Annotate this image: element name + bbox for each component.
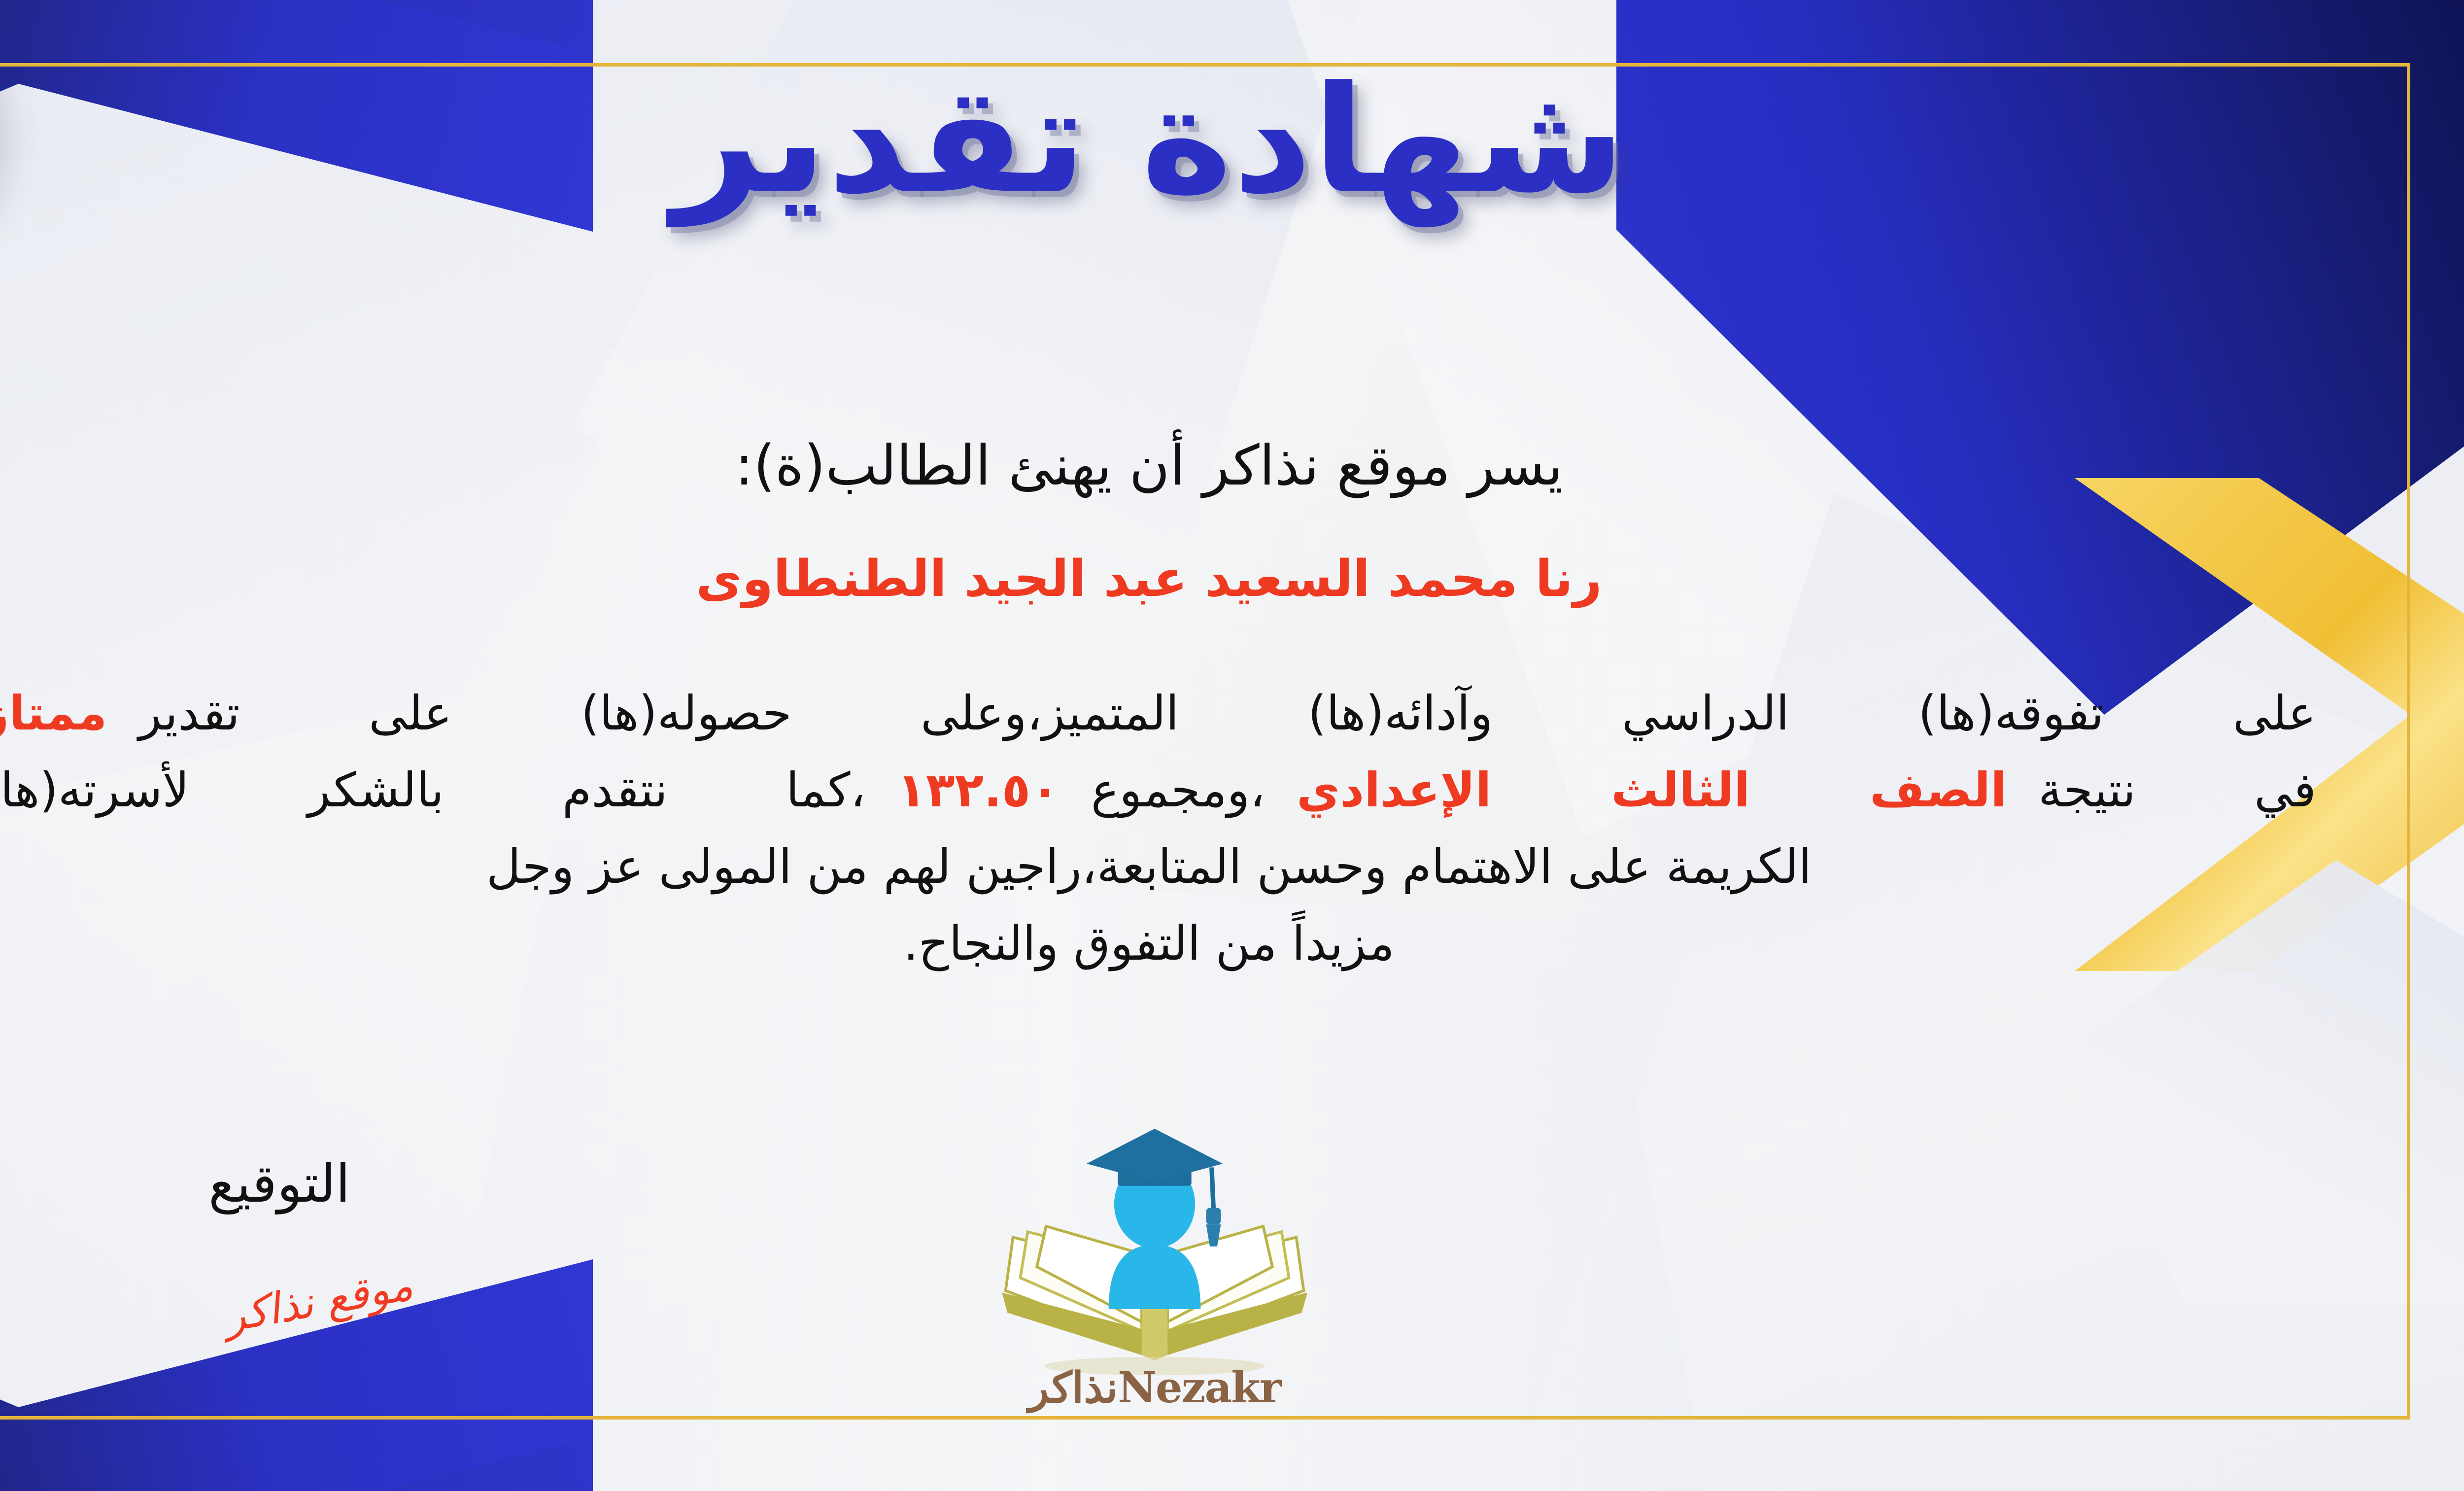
body-line-1-text: على تفوقه(ها) الدراسي وآدائه(ها) المتميز… — [138, 686, 2316, 741]
body-line-3: الكريمة على الاهتمام وحسن المتابعة،راجين… — [0, 829, 2316, 905]
page-title: شهادة تقدير — [0, 67, 2464, 214]
body-line-2-mid: ،ومجموع — [1091, 763, 1265, 818]
grade-rating-value: ممتاز — [0, 686, 107, 741]
mortarboard-top — [1087, 1129, 1223, 1182]
brand-latin: Nezakr — [1118, 1363, 1281, 1413]
body-line-2: في نتيجةالصف الثالث الإعدادي،ومجموع١٣٢.٥… — [0, 752, 2316, 829]
body-paragraph: على تفوقه(ها) الدراسي وآدائه(ها) المتميز… — [0, 675, 2316, 982]
certificate-content: شهادة تقدير يسر موقع نذاكر أن يهنئ الطال… — [0, 0, 2464, 1491]
tassel-cord — [1212, 1167, 1214, 1210]
brand-arabic: نذاكر — [1028, 1363, 1118, 1413]
brand-logo: Nezakrنذاكر — [967, 1129, 1342, 1405]
signature-label: التوقيع — [208, 1153, 350, 1214]
student-name: رنا محمد السعيد عبد الجيد الطنطاوى — [0, 550, 2464, 608]
class-level-value: الصف الثالث الإعدادي — [1297, 763, 2007, 818]
body-line-2-prefix: في نتيجة — [2038, 763, 2316, 818]
total-score-value: ١٣٢.٥٠ — [897, 763, 1059, 818]
tassel-knot — [1206, 1208, 1221, 1225]
greeting-line: يسر موقع نذاكر أن يهنئ الطالب(ة): — [0, 434, 2464, 498]
certificate-canvas: شهادة تقدير يسر موقع نذاكر أن يهنئ الطال… — [0, 0, 2464, 1491]
body-line-4: مزيداً من التفوق والنجاح. — [0, 905, 2316, 982]
signature-script: موقع نذاكر — [220, 1260, 416, 1342]
brand-wordmark: Nezakrنذاكر — [967, 1363, 1342, 1413]
body-line-2-suffix: ،كما نتقدم بالشكر لأسرته(ها) — [0, 763, 865, 818]
body-line-1: على تفوقه(ها) الدراسي وآدائه(ها) المتميز… — [0, 675, 2316, 752]
